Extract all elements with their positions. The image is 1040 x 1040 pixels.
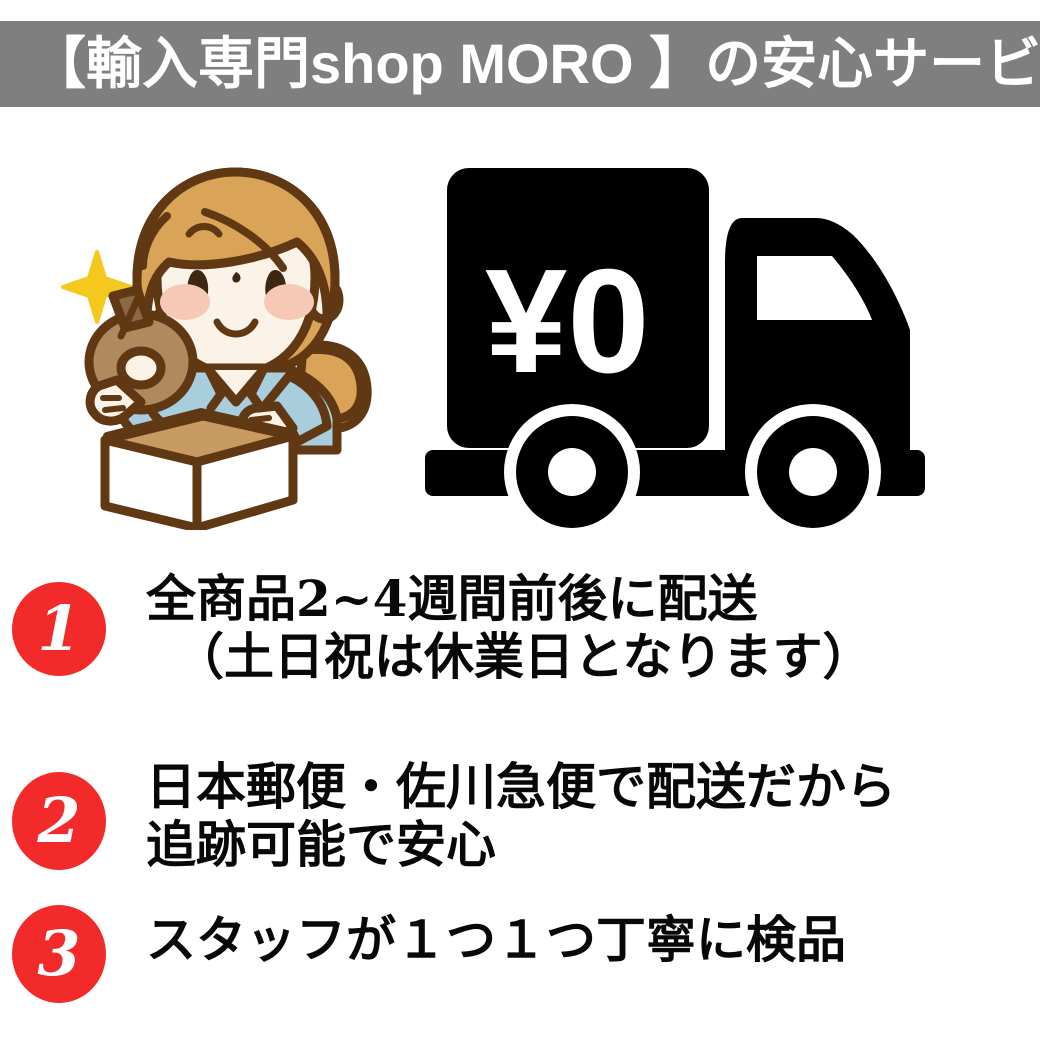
feature-number-badge-3: 3 bbox=[12, 905, 106, 1003]
feature-text-1-line-2: （土日祝は休業日となります） bbox=[146, 628, 873, 686]
feature-list: 1 全商品2~4週間前後に配送 （土日祝は休業日となります） 2 日本郵便・佐川… bbox=[0, 540, 1040, 1040]
feature-text-2-line-1: 日本郵便・佐川急便で配送だから bbox=[146, 758, 896, 816]
feature-number-badge-1: 1 bbox=[12, 582, 106, 676]
feature-text-1-line-1: 全商品2~4週間前後に配送 bbox=[146, 570, 873, 628]
front-hub bbox=[789, 448, 837, 496]
feature-text-2: 日本郵便・佐川急便で配送だから 追跡可能で安心 bbox=[146, 758, 896, 874]
feature-text-3: スタッフが１つ１つ丁寧に検品 bbox=[146, 911, 846, 969]
rear-hub bbox=[548, 448, 596, 496]
feature-number-badge-2: 2 bbox=[12, 772, 106, 870]
illustration-area: ¥0 bbox=[0, 130, 1040, 540]
feature-text-2-line-2: 追跡可能で安心 bbox=[146, 816, 896, 874]
feature-text-3-line-1: スタッフが１つ１つ丁寧に検品 bbox=[146, 911, 846, 969]
feature-text-1: 全商品2~4週間前後に配送 （土日祝は休業日となります） bbox=[146, 570, 873, 686]
header-banner: 【輸入専門shop MORO 】の安心サービス bbox=[0, 21, 1040, 107]
staff-woman-packing-box-illustration bbox=[45, 150, 425, 530]
shipping-service-infographic: 【輸入専門shop MORO 】の安心サービス bbox=[0, 0, 1040, 1040]
free-shipping-truck-illustration: ¥0 bbox=[420, 150, 1020, 530]
free-shipping-price-label: ¥0 bbox=[485, 239, 650, 404]
page-title: 【輸入専門shop MORO 】の安心サービス bbox=[30, 36, 1040, 92]
